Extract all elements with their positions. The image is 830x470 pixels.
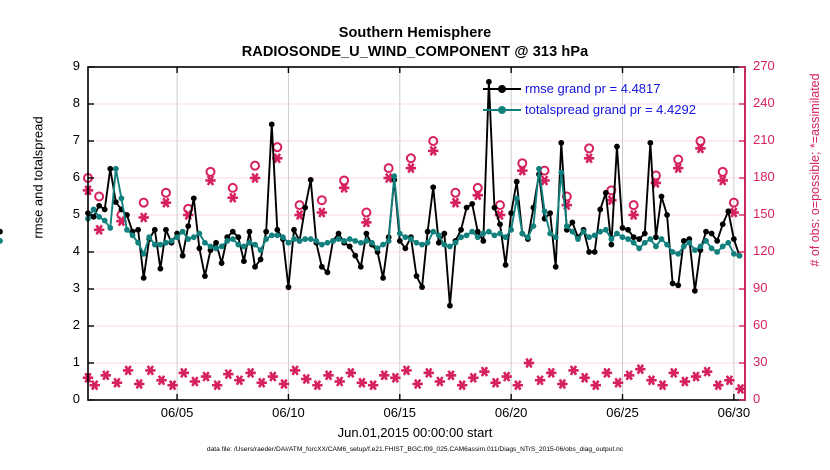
y-tick-label-7: 7 xyxy=(73,132,80,147)
y2-tick-label-240: 240 xyxy=(753,95,775,110)
y2-tick-label-270: 270 xyxy=(753,58,775,73)
y2-tick-label-150: 150 xyxy=(753,206,775,221)
y2-tick-label-180: 180 xyxy=(753,169,775,184)
y-tick-label-9: 9 xyxy=(73,58,80,73)
y2-tick-label-120: 120 xyxy=(753,243,775,258)
y-tick-label-0: 0 xyxy=(73,391,80,406)
x-axis-label: Jun.01,2015 00:00:00 start xyxy=(0,425,830,440)
chart-figure: Southern Hemisphere RADIOSONDE_U_WIND_CO… xyxy=(0,0,830,470)
y2-tick-label-210: 210 xyxy=(753,132,775,147)
x-tick-label-06-05: 06/05 xyxy=(161,405,194,420)
plot-canvas xyxy=(0,0,830,470)
y2-tick-label-0: 0 xyxy=(753,391,760,406)
y-tick-label-8: 8 xyxy=(73,95,80,110)
y2-tick-label-30: 30 xyxy=(753,354,767,369)
y2-tick-label-90: 90 xyxy=(753,280,767,295)
y-tick-label-1: 1 xyxy=(73,354,80,369)
y-tick-label-3: 3 xyxy=(73,280,80,295)
x-tick-label-06-25: 06/25 xyxy=(606,405,639,420)
x-tick-label-06-20: 06/20 xyxy=(495,405,528,420)
y-tick-label-5: 5 xyxy=(73,206,80,221)
y-tick-label-4: 4 xyxy=(73,243,80,258)
x-tick-label-06-10: 06/10 xyxy=(272,405,305,420)
x-tick-label-06-15: 06/15 xyxy=(384,405,417,420)
y2-tick-label-60: 60 xyxy=(753,317,767,332)
x-tick-label-06-30: 06/30 xyxy=(718,405,751,420)
y-axis-label-right: # of obs: o=possible; *=assimilated xyxy=(808,20,822,320)
y-tick-label-2: 2 xyxy=(73,317,80,332)
y-axis-label-left: rmse and totalspread xyxy=(31,48,46,308)
y-tick-label-6: 6 xyxy=(73,169,80,184)
data-file-note: data file: /Users/raeder/DAI/ATM_forcXX/… xyxy=(0,446,830,453)
